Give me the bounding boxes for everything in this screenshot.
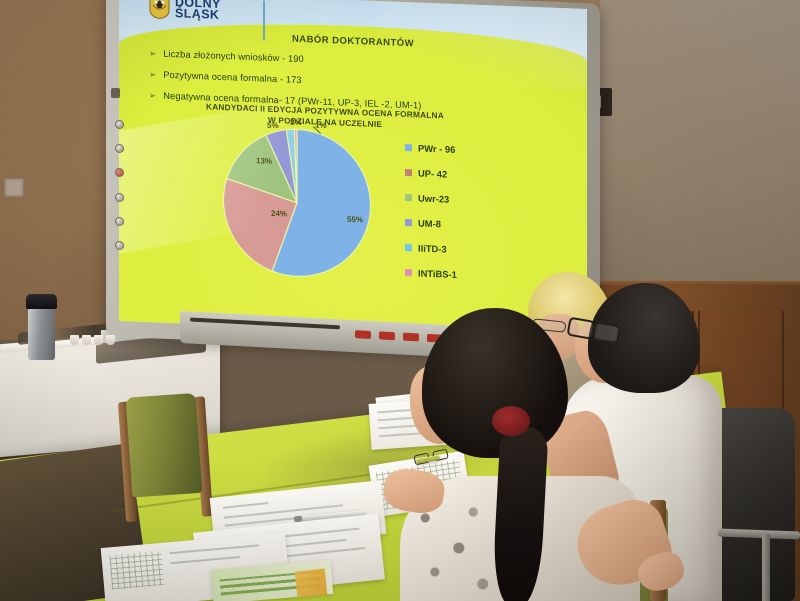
legend-swatch-up	[405, 169, 412, 176]
legend-label: Uwr-23	[418, 192, 449, 204]
legend-item: UM-8	[405, 217, 457, 230]
legend-item: Uwr-23	[405, 192, 457, 205]
legend-item: UP- 42	[405, 167, 457, 180]
pie-label-uwr: 13%	[256, 156, 272, 166]
chair-left[interactable]	[116, 392, 221, 528]
menu-button[interactable]	[115, 144, 124, 153]
red-scrunchie	[492, 406, 530, 436]
light-switch[interactable]	[4, 178, 24, 197]
pie-label-um: 5%	[267, 121, 279, 130]
legend-label: UM-8	[418, 217, 441, 229]
pie-chart	[207, 124, 387, 281]
room-photo-scene: DOLNY ŚLĄSK NABÓR DOKTORANTÓW ➢ Liczba z…	[0, 0, 800, 601]
arrow-bullet-icon: ➢	[149, 48, 156, 59]
pie-chart-svg	[207, 124, 387, 281]
pie-label-pwr: 55%	[347, 215, 363, 225]
enter-button[interactable]	[115, 241, 124, 250]
cup	[94, 335, 103, 345]
legend-swatch-um	[405, 219, 412, 226]
board-knob[interactable]	[111, 88, 120, 98]
logo-text: DOLNY ŚLĄSK	[175, 0, 221, 21]
list-item-label: Pozytywna ocena formalna - 173	[163, 70, 301, 85]
pie-label-iitd: 2%	[290, 118, 302, 127]
tray-groove	[190, 318, 340, 330]
arrow-bullet-icon: ➢	[149, 90, 156, 101]
eagle-crest-icon	[149, 0, 170, 20]
legend-swatch-iiitd	[405, 244, 412, 251]
orange-highlight-block	[295, 569, 328, 598]
up-button[interactable]	[115, 192, 124, 201]
dolny-slask-logo: DOLNY ŚLĄSK	[149, 0, 221, 22]
cup	[82, 335, 91, 345]
person-woman-with-ponytail	[400, 308, 660, 601]
chair-backrest	[126, 393, 203, 498]
coffee-cups	[70, 335, 115, 345]
legend-label: PWr - 96	[418, 142, 455, 154]
cup	[70, 335, 79, 345]
legend-label: INTiBS-1	[418, 267, 457, 279]
pie-label-up: 24%	[271, 209, 287, 219]
legend-label: IIiTD-3	[418, 242, 447, 254]
thermos-cap[interactable]	[26, 294, 57, 309]
legend-label: UP- 42	[418, 167, 447, 179]
right-wall	[600, 0, 800, 300]
legend-item: IIiTD-3	[405, 242, 457, 255]
dark-hair	[422, 308, 568, 458]
arrow-bullet-icon: ➢	[149, 69, 156, 80]
marker-slot[interactable]	[355, 330, 371, 339]
chart-legend: PWr - 96UP- 42Uwr-23UM-8IIiTD-3INTiBS-1	[405, 142, 457, 294]
down-button[interactable]	[115, 217, 124, 226]
whiteboard-bezel-buttons[interactable]	[113, 120, 126, 250]
cup	[106, 335, 115, 345]
power-button[interactable]	[115, 120, 124, 129]
legend-swatch-uwr	[405, 194, 412, 201]
legend-swatch-pwr	[405, 144, 412, 151]
chair-right-leg	[762, 534, 770, 601]
legend-item: PWr - 96	[405, 142, 457, 155]
interactive-whiteboard[interactable]: DOLNY ŚLĄSK NABÓR DOKTORANTÓW ➢ Liczba z…	[106, 0, 600, 355]
legend-swatch-intibs	[405, 269, 412, 276]
legend-item: INTiBS-1	[405, 267, 457, 280]
projection-screen: DOLNY ŚLĄSK NABÓR DOKTORANTÓW ➢ Liczba z…	[119, 0, 587, 339]
logo-line-2: ŚLĄSK	[175, 8, 221, 21]
marker-slot[interactable]	[379, 331, 395, 340]
thermos-flask[interactable]	[28, 307, 55, 360]
presentation-slide: DOLNY ŚLĄSK NABÓR DOKTORANTÓW ➢ Liczba z…	[119, 0, 587, 339]
select-red-button[interactable]	[115, 168, 124, 177]
